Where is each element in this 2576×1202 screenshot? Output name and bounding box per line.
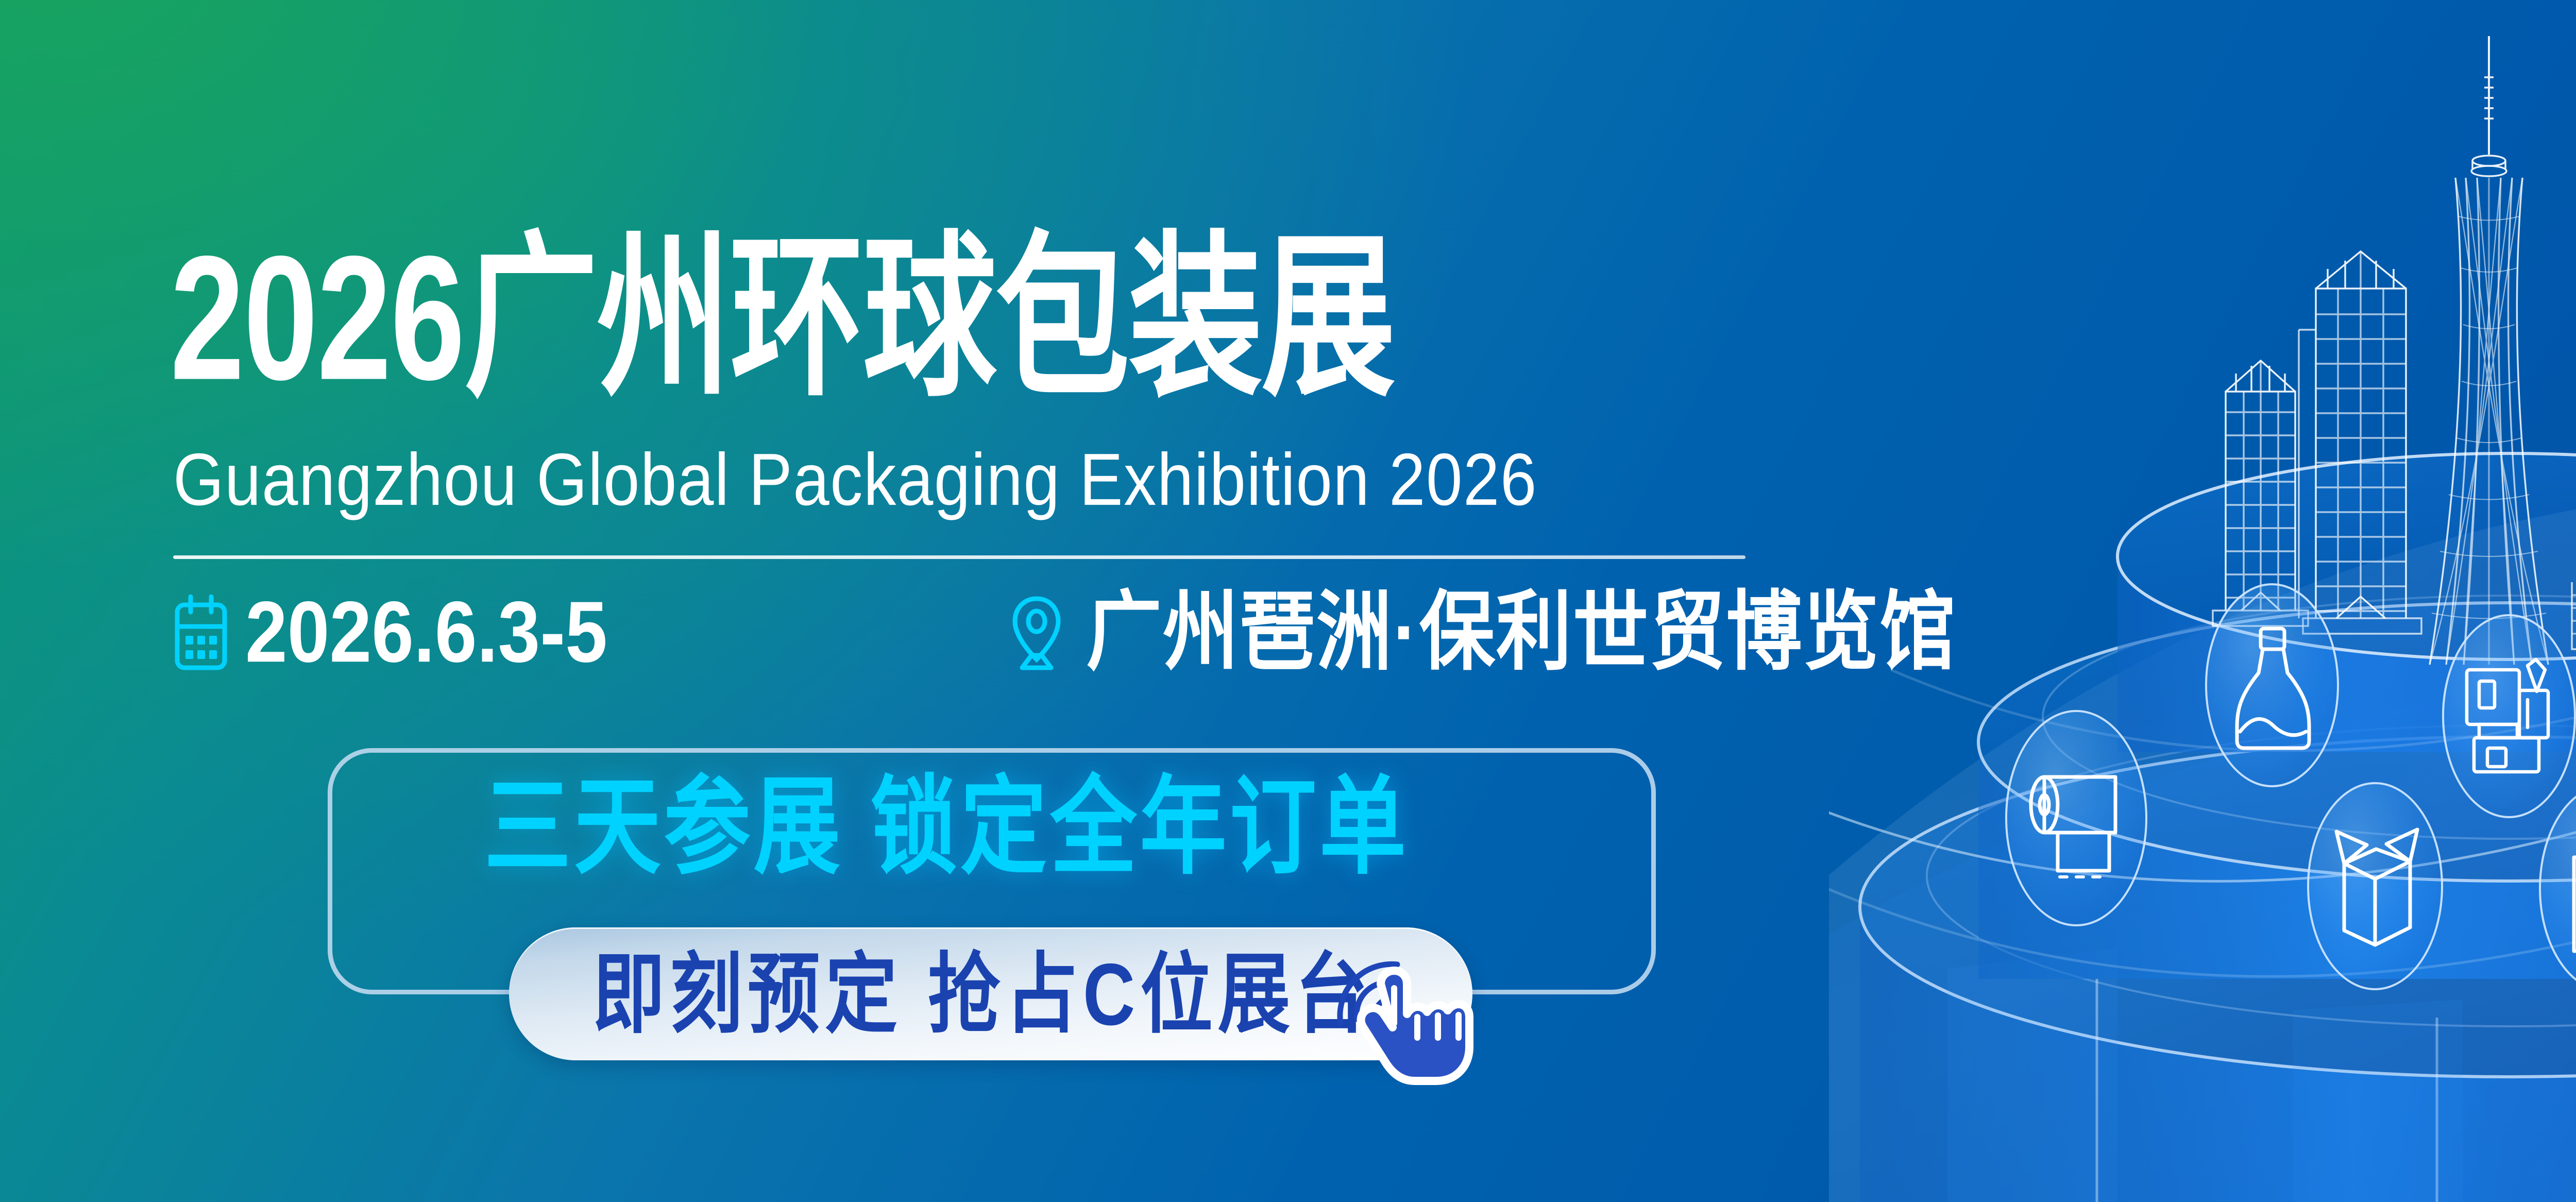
page-subtitle-en: Guangzhou Global Packaging Exhibition 20… [173,443,1537,517]
promo-slogan: 三天参展 锁定全年订单 [484,774,1409,881]
tap-cursor-icon [1333,937,1483,1091]
page-title: 2026广州环球包装展 [170,229,1395,406]
banner-content: 2026广州环球包装展 Guangzhou Global Packaging E… [0,0,1906,1202]
canton-tower-icon [2430,36,2548,665]
calendar-icon [173,595,229,672]
platform-tier-top [2117,453,2576,752]
event-venue-text: 广州琶洲·保利世贸博览馆 [1086,588,1956,675]
glass-tower-small-icon [2213,361,2308,626]
glass-tower-large-icon [2299,251,2421,634]
location-pin-icon [1009,595,1064,672]
shopping-bag-icon [2540,785,2576,991]
platform-tier-middle [1978,596,2576,979]
packaging-icons [2006,580,2576,991]
citic-plaza-tower-icon [2572,258,2576,649]
paper-roll-icon [2006,711,2146,925]
guangzhou-skyline [2213,36,2576,665]
printing-press-icon [2443,615,2575,817]
book-booth-button[interactable]: 即刻预定 抢占C位展台 [509,927,1472,1060]
exhibition-banner: 2026广州环球包装展 Guangzhou Global Packaging E… [0,0,2576,1202]
divider [173,555,1745,559]
book-booth-button-label: 即刻预定 抢占C位展台 [592,951,1373,1039]
open-box-icon [2308,783,2442,989]
platform-tier-bottom [1860,725,2576,1202]
bottle-icon [2206,584,2338,786]
event-date-text: 2026.6.3-5 [245,588,607,675]
